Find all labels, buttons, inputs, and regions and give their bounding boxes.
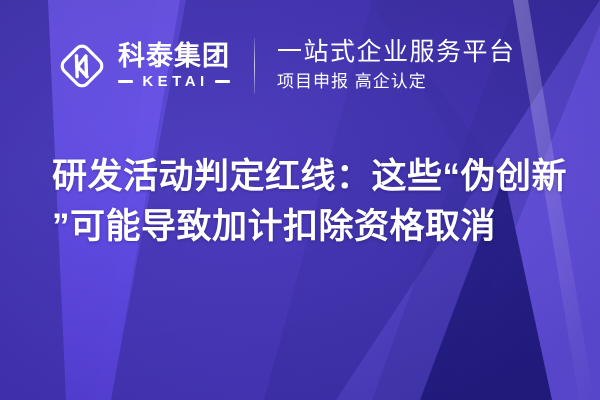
banner-content: 科泰集团 KETAI 一站式企业服务平台 项目申报 高企认定 研发活动判定红线：…	[0, 0, 600, 400]
brand-dash-left	[118, 80, 133, 83]
header-tagline: 一站式企业服务平台 项目申报 高企认定	[277, 38, 516, 94]
page-title-line-1: 研发活动判定红线：这些“伪创新	[52, 152, 570, 202]
page-title-line-2: ”可能导致加计扣除资格取消	[52, 202, 570, 252]
brand-lockup: 科泰集团 KETAI	[56, 40, 230, 92]
brand-text: 科泰集团 KETAI	[118, 43, 230, 89]
brand-name-cn: 科泰集团	[118, 43, 230, 71]
header-divider	[254, 38, 255, 94]
brand-name-en-row: KETAI	[118, 74, 230, 89]
page-title: 研发活动判定红线：这些“伪创新 ”可能导致加计扣除资格取消	[52, 152, 570, 253]
brand-name-en: KETAI	[133, 74, 214, 89]
banner-header: 科泰集团 KETAI 一站式企业服务平台 项目申报 高企认定	[56, 38, 516, 94]
tagline-secondary: 项目申报 高企认定	[277, 71, 516, 94]
promo-banner: 科泰集团 KETAI 一站式企业服务平台 项目申报 高企认定 研发活动判定红线：…	[0, 0, 600, 400]
ketai-diamond-monogram-logo	[56, 40, 108, 92]
tagline-primary: 一站式企业服务平台	[277, 38, 516, 67]
brand-dash-right	[215, 80, 230, 83]
